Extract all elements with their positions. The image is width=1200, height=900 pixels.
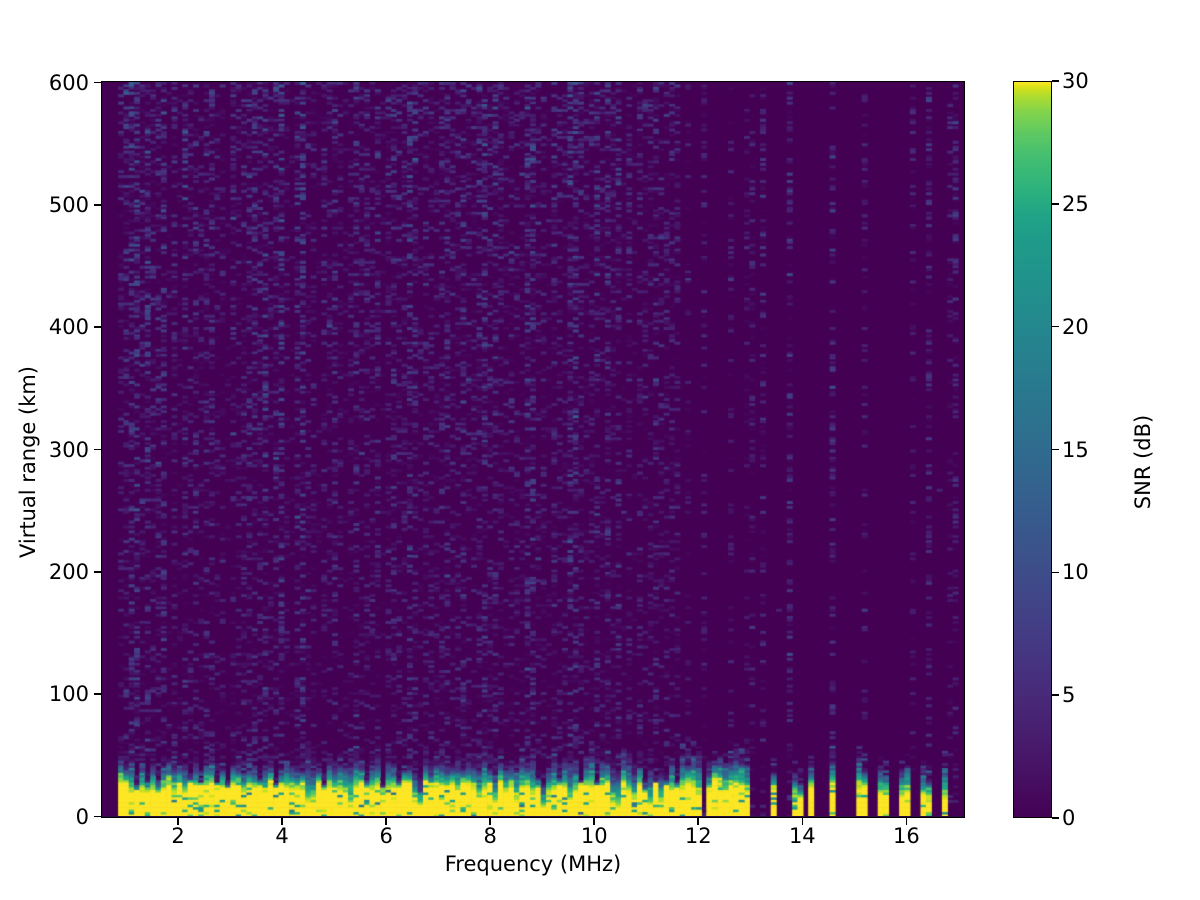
colorbar-tick-label-20: 20 xyxy=(1062,315,1089,339)
x-tick-mark-4 xyxy=(281,818,283,825)
x-tick-mark-14 xyxy=(802,818,804,825)
x-tick-mark-16 xyxy=(906,818,908,825)
y-tick-mark-500 xyxy=(94,204,101,206)
colorbar-tick-label-15: 15 xyxy=(1062,438,1089,462)
y-tick-mark-600 xyxy=(94,82,101,84)
x-tick-mark-8 xyxy=(489,818,491,825)
x-tick-mark-10 xyxy=(593,818,595,825)
colorbar-tick-mark-30 xyxy=(1052,80,1059,82)
colorbar-tick-label-0: 0 xyxy=(1062,806,1075,830)
x-tick-label-4: 4 xyxy=(242,824,322,848)
y-axis-tick-labels: 0100200300400500600 xyxy=(0,0,89,900)
colorbar-tick-label-5: 5 xyxy=(1062,683,1075,707)
x-axis-label: Frequency (MHz) xyxy=(101,852,965,876)
y-tick-label-0: 0 xyxy=(9,805,89,829)
x-tick-label-8: 8 xyxy=(450,824,530,848)
y-tick-label-500: 500 xyxy=(9,193,89,217)
y-tick-mark-400 xyxy=(94,326,101,328)
x-tick-label-12: 12 xyxy=(658,824,738,848)
y-tick-mark-200 xyxy=(94,571,101,573)
y-tick-mark-100 xyxy=(94,693,101,695)
colorbar-tick-mark-5 xyxy=(1052,694,1059,696)
x-tick-label-6: 6 xyxy=(346,824,426,848)
y-tick-mark-300 xyxy=(94,449,101,451)
x-tick-label-14: 14 xyxy=(762,824,842,848)
colorbar-tick-mark-20 xyxy=(1052,326,1059,328)
y-tick-mark-0 xyxy=(94,816,101,818)
colorbar-tick-mark-25 xyxy=(1052,203,1059,205)
x-tick-label-10: 10 xyxy=(554,824,634,848)
y-tick-label-100: 100 xyxy=(9,682,89,706)
y-tick-label-600: 600 xyxy=(9,71,89,95)
colorbar-tick-label-30: 30 xyxy=(1062,69,1089,93)
x-tick-label-16: 16 xyxy=(866,824,946,848)
ionogram-figure: IRF Kiruna Ionosonde KI167 2026-04-12 13… xyxy=(0,0,1200,900)
x-tick-mark-12 xyxy=(697,818,699,825)
colorbar[interactable] xyxy=(1013,81,1052,818)
x-tick-mark-6 xyxy=(385,818,387,825)
heatmap-plot-area[interactable] xyxy=(101,81,965,818)
colorbar-tick-label-25: 25 xyxy=(1062,192,1089,216)
colorbar-tick-mark-0 xyxy=(1052,817,1059,819)
colorbar-tick-label-10: 10 xyxy=(1062,560,1089,584)
ionogram-heatmap xyxy=(102,82,963,816)
colorbar-label: SNR (dB) xyxy=(1131,322,1155,602)
colorbar-tick-mark-10 xyxy=(1052,572,1059,574)
x-tick-label-2: 2 xyxy=(138,824,218,848)
colorbar-tick-mark-15 xyxy=(1052,449,1059,451)
y-axis-label: Virtual range (km) xyxy=(16,322,40,602)
x-tick-mark-2 xyxy=(177,818,179,825)
